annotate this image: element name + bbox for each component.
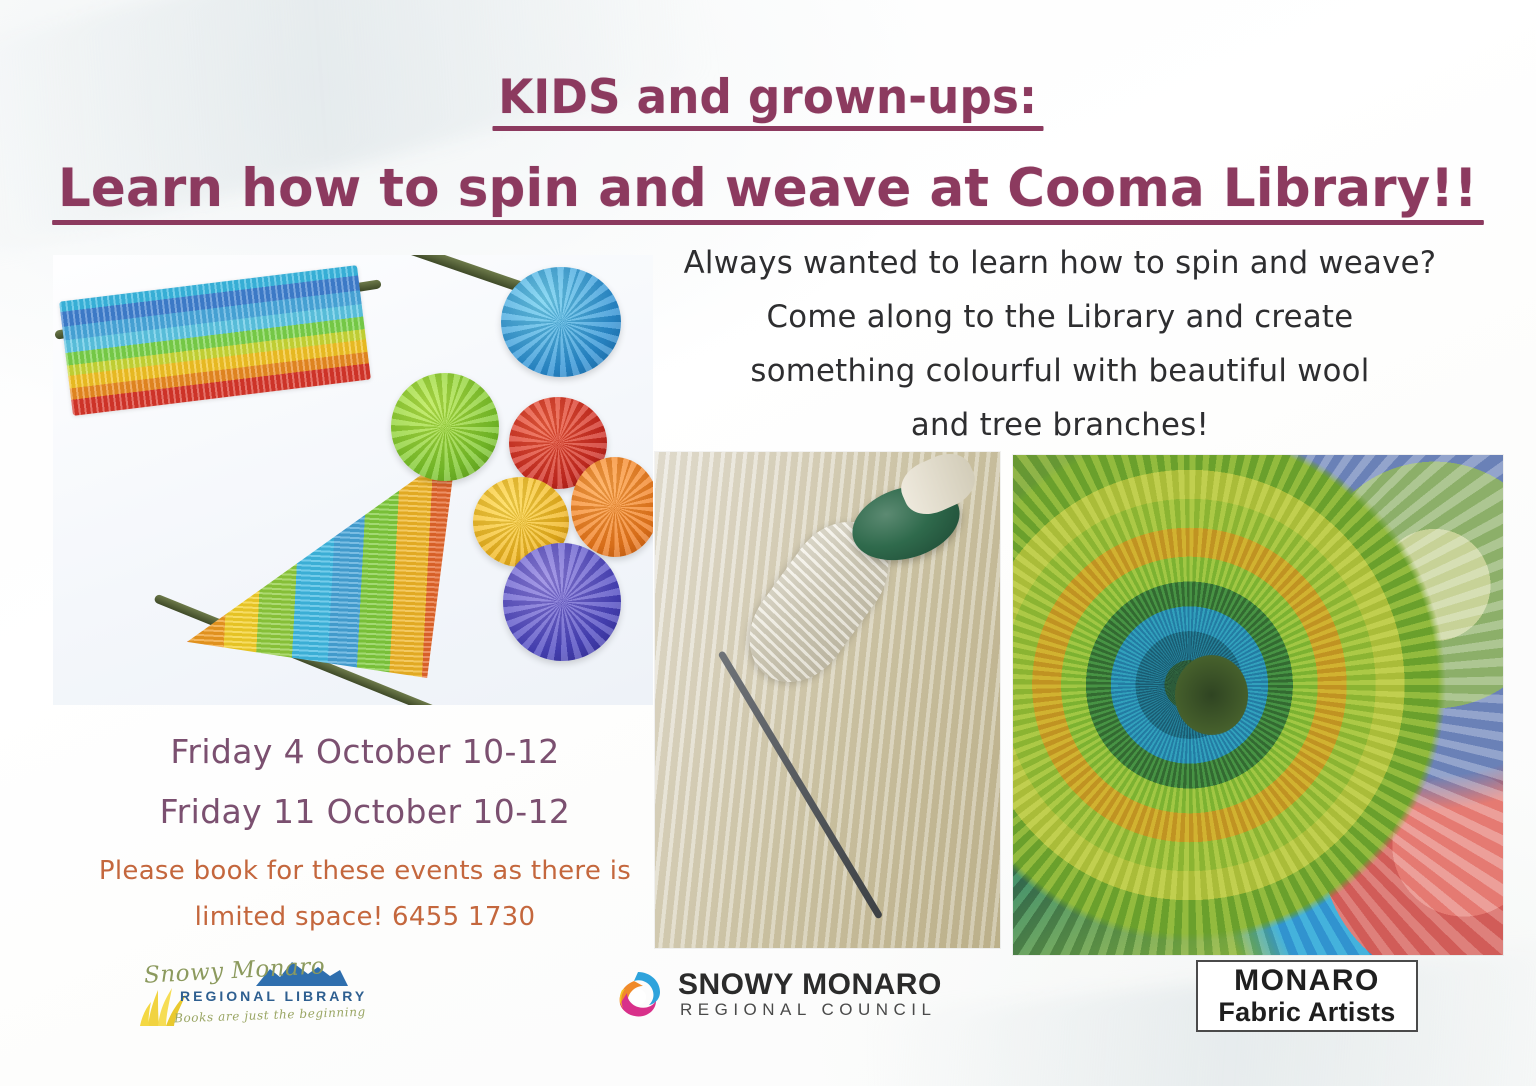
council-subtitle: REGIONAL COUNCIL [680,1000,936,1020]
session-dates: Friday 4 October 10-12 Friday 11 October… [80,722,650,842]
intro-line-3: something colourful with beautiful wool [644,344,1476,398]
booking-note: Please book for these events as there is… [70,848,660,940]
intro-paragraph: Always wanted to learn how to spin and w… [644,236,1476,452]
wool-ball-blue [501,267,621,377]
fabric-artists-line-1: MONARO [1234,965,1380,997]
booking-line-1: Please book for these events as there is [70,848,660,894]
wool-ball-green [391,373,499,481]
library-name: REGIONAL LIBRARY [180,988,367,1004]
photo-drop-spindle [655,452,1000,948]
intro-line-1: Always wanted to learn how to spin and w… [644,236,1476,290]
session-date-1: Friday 4 October 10-12 [80,722,650,782]
wool-ball-purple [503,543,621,661]
poster-title: KIDS and grown-ups: Learn how to spin an… [0,74,1536,216]
fabric-artists-line-2: Fabric Artists [1218,997,1395,1027]
booking-line-2: limited space! 6455 1730 [70,894,660,940]
logo-monaro-fabric-artists: MONARO Fabric Artists [1196,960,1418,1032]
yarn-strand-texture [1013,455,1503,955]
title-line-2: Learn how to spin and weave at Cooma Lib… [58,162,1478,216]
intro-line-4: and tree branches! [644,398,1476,452]
council-name: SNOWY MONARO [678,968,942,1002]
session-date-2: Friday 11 October 10-12 [80,782,650,842]
photo-rainbow-branch-weaving [53,255,653,705]
poster-page: KIDS and grown-ups: Learn how to spin an… [0,0,1536,1086]
intro-line-2: Come along to the Library and create [644,290,1476,344]
photo-handspun-yarn [1013,455,1503,955]
logo-snowy-monaro-regional-library: Snowy Monaro REGIONAL LIBRARY Books are … [138,958,348,1036]
title-line-1: KIDS and grown-ups: [498,74,1037,122]
logo-snowy-monaro-regional-council: SNOWY MONARO REGIONAL COUNCIL [610,962,910,1028]
yarn-skein-centre [1175,655,1249,735]
wool-ball-orange [571,457,653,557]
council-swirl-icon [610,966,666,1022]
